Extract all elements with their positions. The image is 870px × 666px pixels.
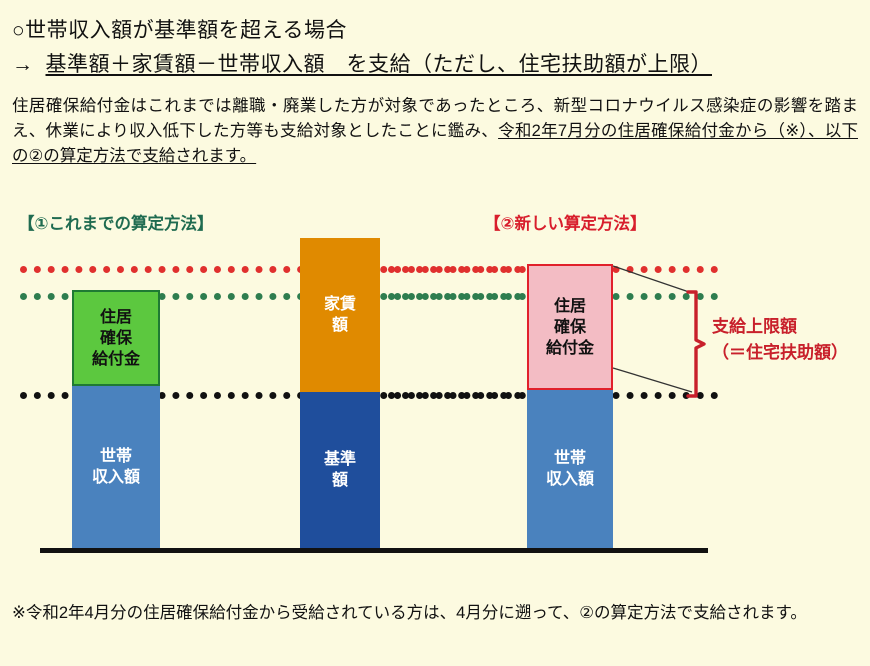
payment-cap-annotation: 支給上限額 （＝住宅扶助額） (712, 314, 848, 366)
heading-line-1: ○世帯収入額が基準額を超える場合 (12, 14, 347, 44)
connector-bottom-line (613, 368, 692, 392)
payment-cap-brace (684, 288, 710, 400)
segment-label-line-2: 収入額 (92, 467, 140, 488)
segment-label-line-2: 額 (332, 315, 348, 336)
segment-rent-amount: 家賃 額 (300, 238, 380, 392)
segment-label-line-1: 住居 (554, 296, 586, 317)
bar-old-method: 住居 確保 給付金 世帯 収入額 (72, 290, 160, 548)
segment-label-line-2: 収入額 (546, 469, 594, 490)
slide-page: ○世帯収入額が基準額を超える場合 →基準額＋家賃額－世帯収入額 を支給（ただし、… (0, 0, 870, 666)
bar-new-method: 住居 確保 給付金 世帯 収入額 (527, 264, 613, 548)
heading-line-2-text: 基準額＋家賃額－世帯収入額 を支給（ただし、住宅扶助額が上限） (46, 53, 713, 76)
segment-household-income-old: 世帯 収入額 (72, 386, 160, 548)
segment-label-line-1: 世帯 (554, 448, 586, 469)
annotation-line-1: 支給上限額 (712, 314, 848, 340)
intro-paragraph: 住居確保給付金はこれまでは離職・廃業した方が対象であったところ、新型コロナウイル… (12, 94, 858, 169)
chart-title-left: 【①これまでの算定方法】 (18, 210, 213, 234)
segment-household-income-new: 世帯 収入額 (527, 390, 613, 548)
segment-label-line-1: 世帯 (100, 446, 132, 467)
segment-housing-security-benefit-old: 住居 確保 給付金 (72, 290, 160, 386)
arrow-glyph: → (12, 53, 34, 77)
segment-label-line-2: 額 (332, 470, 348, 491)
segment-label-line-2: 確保 (554, 317, 586, 338)
segment-standard-amount: 基準 額 (300, 392, 380, 548)
segment-label-line-3: 給付金 (92, 349, 140, 370)
annotation-line-2: （＝住宅扶助額） (712, 340, 848, 366)
segment-label-line-1: 基準 (324, 449, 356, 470)
heading-line-2: →基準額＋家賃額－世帯収入額 を支給（ただし、住宅扶助額が上限） (12, 48, 712, 78)
connector-top-line (613, 266, 692, 293)
segment-label-line-1: 住居 (100, 307, 132, 328)
segment-label-line-1: 家賃 (324, 294, 356, 315)
calculation-method-chart: 【①これまでの算定方法】 【②新しい算定方法】 住居 確保 給付金 世帯 収入額 (0, 196, 870, 576)
segment-label-line-2: 確保 (100, 328, 132, 349)
bar-reference: 家賃 額 基準 額 (300, 238, 380, 548)
brace-path (688, 292, 704, 396)
segment-label-line-3: 給付金 (546, 338, 594, 359)
chart-baseline (40, 548, 708, 553)
segment-housing-security-benefit-new: 住居 確保 給付金 (527, 264, 613, 390)
footnote: ※令和2年4月分の住居確保給付金から受給されている方は、4月分に遡って、②の算定… (12, 600, 858, 627)
chart-title-right: 【②新しい算定方法】 (484, 210, 646, 234)
